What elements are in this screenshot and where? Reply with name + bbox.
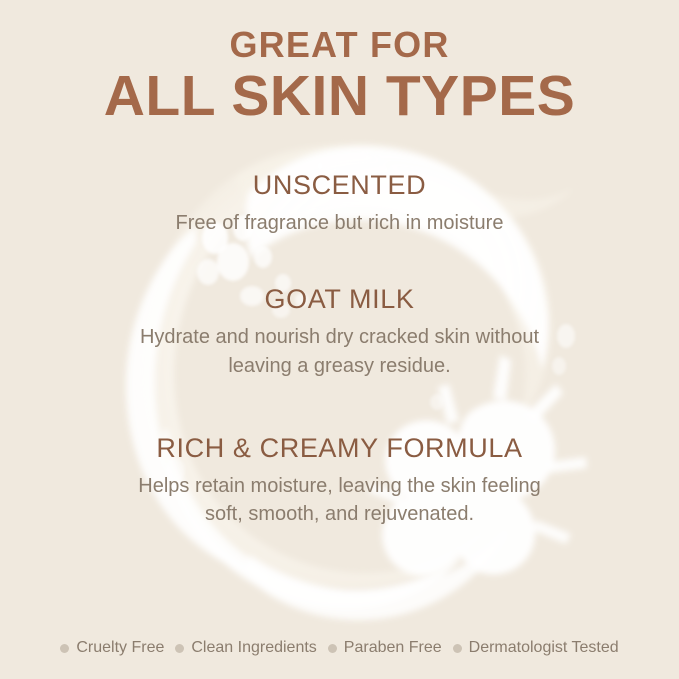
product-benefits-poster: GREAT FOR ALL SKIN TYPES UNSCENTED Free … — [0, 0, 679, 679]
bullet-dot-icon — [60, 644, 69, 653]
claim-badge-paraben-free: Paraben Free — [317, 639, 442, 657]
claim-badge-clean-ingredients: Clean Ingredients — [164, 639, 316, 657]
claim-badge-dermatologist-tested: Dermatologist Tested — [442, 639, 619, 657]
benefit-section-unscented: UNSCENTED Free of fragrance but rich in … — [0, 169, 679, 237]
headline-line-1: GREAT FOR — [0, 26, 679, 64]
benefit-body-line-1: Hydrate and nourish dry cracked skin wit… — [60, 323, 620, 351]
benefit-body-line-1: Helps retain moisture, leaving the skin … — [60, 472, 620, 500]
benefit-body-line-1: Free of fragrance but rich in moisture — [60, 209, 620, 237]
page-title: GREAT FOR ALL SKIN TYPES — [0, 0, 679, 127]
benefit-title: UNSCENTED — [0, 169, 679, 203]
bullet-dot-icon — [453, 644, 462, 653]
bullet-dot-icon — [175, 644, 184, 653]
benefit-title: RICH & CREAMY FORMULA — [0, 432, 679, 466]
benefit-title: GOAT MILK — [0, 283, 679, 317]
benefit-section-goat-milk: GOAT MILK Hydrate and nourish dry cracke… — [0, 283, 679, 380]
claim-label: Dermatologist Tested — [469, 639, 619, 657]
benefit-body-line-2: leaving a greasy residue. — [60, 352, 620, 380]
headline-line-2: ALL SKIN TYPES — [0, 66, 679, 128]
claim-label: Clean Ingredients — [191, 639, 316, 657]
claim-label: Paraben Free — [344, 639, 442, 657]
claim-label: Cruelty Free — [76, 639, 164, 657]
benefit-sections: UNSCENTED Free of fragrance but rich in … — [0, 169, 679, 528]
spacer — [0, 269, 679, 283]
claims-footer: Cruelty Free Clean Ingredients Paraben F… — [0, 639, 679, 657]
benefit-section-rich-creamy-formula: RICH & CREAMY FORMULA Helps retain moist… — [0, 432, 679, 529]
spacer — [0, 412, 679, 432]
bullet-dot-icon — [328, 644, 337, 653]
benefit-body-line-2: soft, smooth, and rejuvenated. — [60, 500, 620, 528]
claim-badge-cruelty-free: Cruelty Free — [60, 639, 164, 657]
